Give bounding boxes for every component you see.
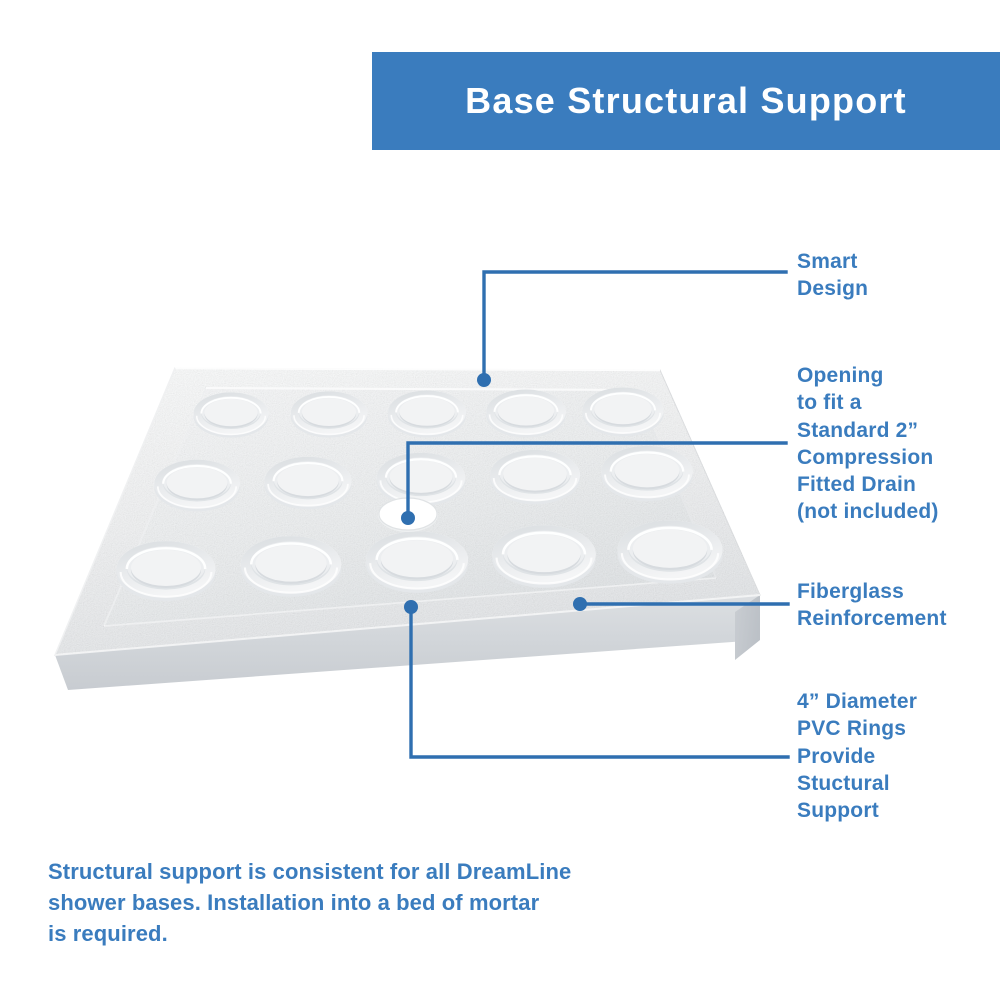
pvc-ring <box>194 392 269 437</box>
pvc-ring <box>366 531 468 593</box>
pvc-ring <box>492 525 596 588</box>
callout-smart-design: Smart Design <box>797 248 997 303</box>
header-banner: Base Structural Support <box>372 52 1000 150</box>
pvc-ring <box>241 536 342 597</box>
pvc-ring <box>265 457 352 510</box>
pvc-ring <box>490 450 580 504</box>
shower-base-drawing <box>0 330 800 750</box>
footer-note: Structural support is consistent for all… <box>48 856 688 950</box>
pvc-ring <box>486 389 566 437</box>
infographic-page: Base Structural Support <box>0 0 1000 1000</box>
drain-opening <box>378 498 438 532</box>
product-illustration <box>0 330 800 750</box>
callout-drain-opening: Opening to fit a Standard 2” Compression… <box>797 362 1000 526</box>
pvc-ring <box>117 541 216 601</box>
pvc-ring <box>583 388 664 437</box>
pvc-ring <box>377 453 466 506</box>
pvc-ring <box>154 460 240 512</box>
callout-pvc-rings: 4” Diameter PVC Rings Provide Stuctural … <box>797 688 997 824</box>
pvc-ring <box>291 391 368 437</box>
pvc-ring <box>388 390 466 437</box>
page-title: Base Structural Support <box>465 80 907 122</box>
pvc-ring <box>601 446 693 501</box>
pvc-ring <box>618 520 723 583</box>
callout-fiberglass-reinforcement: Fiberglass Reinforcement <box>797 578 997 633</box>
